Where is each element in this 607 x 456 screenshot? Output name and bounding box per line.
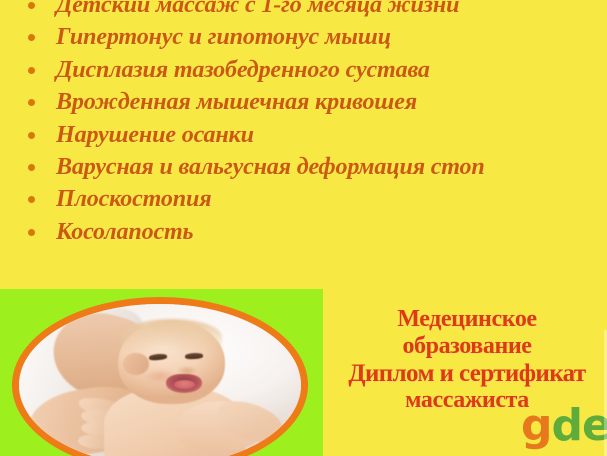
advertisement-poster: Детский массаж с 1-го месяца жизни Гипер… xyxy=(0,0,607,456)
service-label: Дисплазия тазобедренного сустава xyxy=(56,54,430,86)
bullet-icon xyxy=(28,229,35,236)
credentials-line-2: образование xyxy=(327,333,607,360)
bullet-icon xyxy=(28,99,35,106)
credentials-line-1: Медецинское xyxy=(327,306,607,333)
service-label: Детский массаж с 1-го месяца жизни xyxy=(56,0,459,21)
bullet-icon xyxy=(28,164,35,171)
list-item: Гипертонус и гипотонус мышц xyxy=(0,21,607,53)
services-list: Детский массаж с 1-го месяца жизни Гипер… xyxy=(0,0,607,248)
bullet-icon xyxy=(28,34,35,41)
photo-vignette xyxy=(19,304,301,456)
gde-watermark: gde xyxy=(521,404,607,448)
service-label: Нарушение осанки xyxy=(56,119,254,151)
service-label: Косолапость xyxy=(56,216,193,248)
bullet-icon xyxy=(28,196,35,203)
watermark-letter-g: g xyxy=(521,400,552,451)
list-item: Плоскостопия xyxy=(0,183,607,215)
service-label: Врожденная мышечная кривошея xyxy=(56,86,417,118)
watermark-letter-d: d xyxy=(552,400,583,451)
bullet-icon xyxy=(28,67,35,74)
bullet-icon xyxy=(28,132,35,139)
service-label: Гипертонус и гипотонус мышц xyxy=(56,21,391,53)
baby-massage-photo xyxy=(12,297,308,456)
list-item: Дисплазия тазобедренного сустава xyxy=(0,54,607,86)
service-label: Варусная и вальгусная деформация стоп xyxy=(56,151,485,183)
bullet-icon xyxy=(28,2,35,9)
service-label: Плоскостопия xyxy=(56,183,211,215)
credentials-line-3: Диплом и сертификат xyxy=(327,360,607,387)
list-item: Нарушение осанки xyxy=(0,119,607,151)
list-item: Врожденная мышечная кривошея xyxy=(0,86,607,118)
list-item: Детский массаж с 1-го месяца жизни xyxy=(0,0,607,21)
photo-panel xyxy=(0,289,323,456)
list-item: Косолапость xyxy=(0,216,607,248)
credentials-block: Медецинское образование Диплом и сертифи… xyxy=(327,306,607,414)
list-item: Варусная и вальгусная деформация стоп xyxy=(0,151,607,183)
